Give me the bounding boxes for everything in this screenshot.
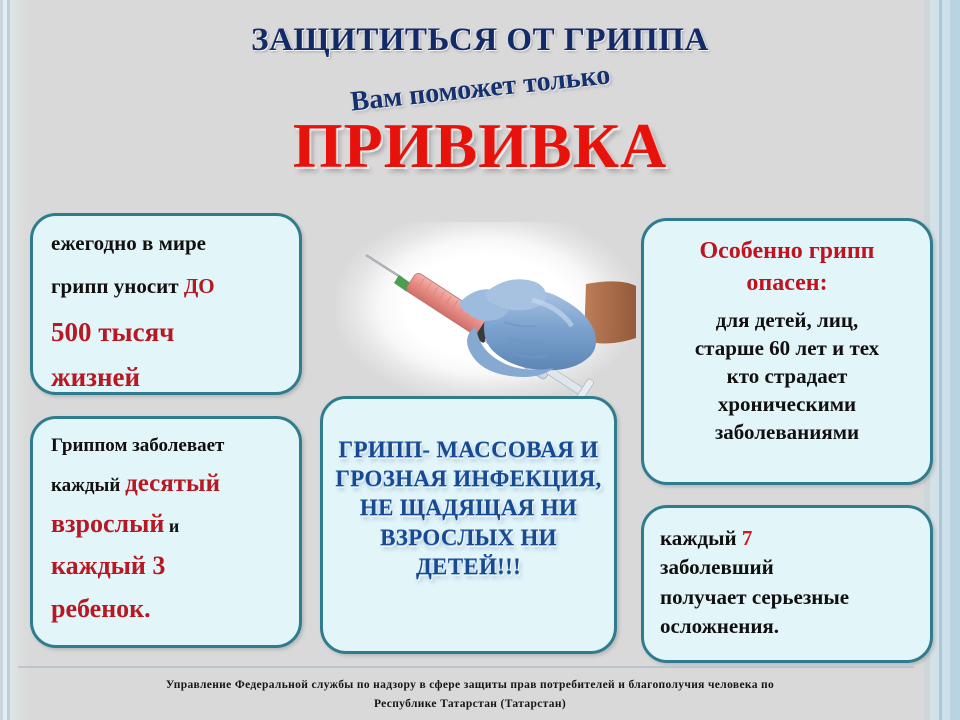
complications-line-4: осложнения. [660, 612, 918, 641]
footer-line-1: Управление Федеральной службы по надзору… [40, 676, 900, 695]
card-incidence-rate: Гриппом заболевает каждый десятый взросл… [30, 416, 302, 648]
incidence-line-2-black: каждый [51, 475, 125, 496]
incidence-line-4: каждый 3 [51, 549, 285, 583]
deaths-line-4: жизней [51, 360, 283, 396]
deaths-line-2-black: грипп уносит [51, 274, 184, 298]
complications-line-1-black: каждый [660, 526, 742, 550]
mass-line-3: НЕ ЩАДЯЩАЯ НИ [333, 493, 604, 522]
syringe-photo [336, 222, 636, 398]
incidence-line-5: ребенок. [51, 592, 285, 626]
incidence-line-2: каждый десятый [51, 467, 285, 500]
complications-line-3: получает серьезные [660, 583, 918, 612]
deaths-line-2: грипп уносит ДО [51, 273, 283, 301]
incidence-line-3-black: и [164, 516, 179, 536]
poster-title: ЗАЩИТИТЬСЯ ОТ ГРИППА [0, 22, 960, 59]
incidence-line-2-red: десятый [125, 470, 220, 497]
deaths-line-2-red: ДО [184, 274, 215, 298]
risk-body-4: хроническими [656, 390, 918, 418]
footer-divider [18, 666, 914, 668]
mass-line-5: ДЕТЕЙ!!! [333, 552, 604, 581]
deaths-line-3: 500 тысяч [51, 315, 283, 351]
card-mass-infection: ГРИПП- МАССОВАЯ И ГРОЗНАЯ ИНФЕКЦИЯ, НЕ Щ… [320, 396, 617, 654]
card-complications: каждый 7 заболевший получает серьезные о… [641, 505, 933, 663]
poster-keyword: ПРИВИВКА [0, 109, 960, 183]
deaths-line-1: ежегодно в мире [51, 230, 283, 258]
complications-line-1: каждый 7 [660, 524, 918, 553]
incidence-line-1: Гриппом заболевает [51, 433, 285, 458]
incidence-line-3: взрослый и [51, 507, 285, 541]
gloved-hand-syringe-icon [336, 222, 636, 398]
footer-attribution: Управление Федеральной службы по надзору… [40, 676, 900, 714]
risk-heading-2: опасен: [656, 269, 918, 298]
card-risk-groups: Особенно грипп опасен: для детей, лиц, с… [641, 218, 933, 485]
headline-block: ЗАЩИТИТЬСЯ ОТ ГРИППА Вам поможет только … [0, 22, 960, 183]
complications-line-2: заболевший [660, 553, 918, 582]
complications-line-1-red: 7 [742, 526, 753, 550]
poster-canvas: ЗАЩИТИТЬСЯ ОТ ГРИППА Вам поможет только … [0, 0, 960, 720]
risk-body-2: старше 60 лет и тех [656, 334, 918, 362]
footer-line-2: Республике Татарстан (Татарстан) [40, 695, 900, 714]
risk-body-5: заболеваниями [656, 418, 918, 446]
risk-body-1: для детей, лиц, [656, 306, 918, 334]
risk-body-3: кто страдает [656, 362, 918, 390]
mass-line-2: ГРОЗНАЯ ИНФЕКЦИЯ, [333, 464, 604, 493]
mass-line-4: ВЗРОСЛЫХ НИ [333, 523, 604, 552]
mass-line-1: ГРИПП- МАССОВАЯ И [333, 435, 604, 464]
incidence-line-3-red: взрослый [51, 509, 164, 538]
card-annual-deaths: ежегодно в мире грипп уносит ДО 500 тыся… [30, 213, 302, 395]
risk-heading-1: Особенно грипп [656, 237, 918, 266]
